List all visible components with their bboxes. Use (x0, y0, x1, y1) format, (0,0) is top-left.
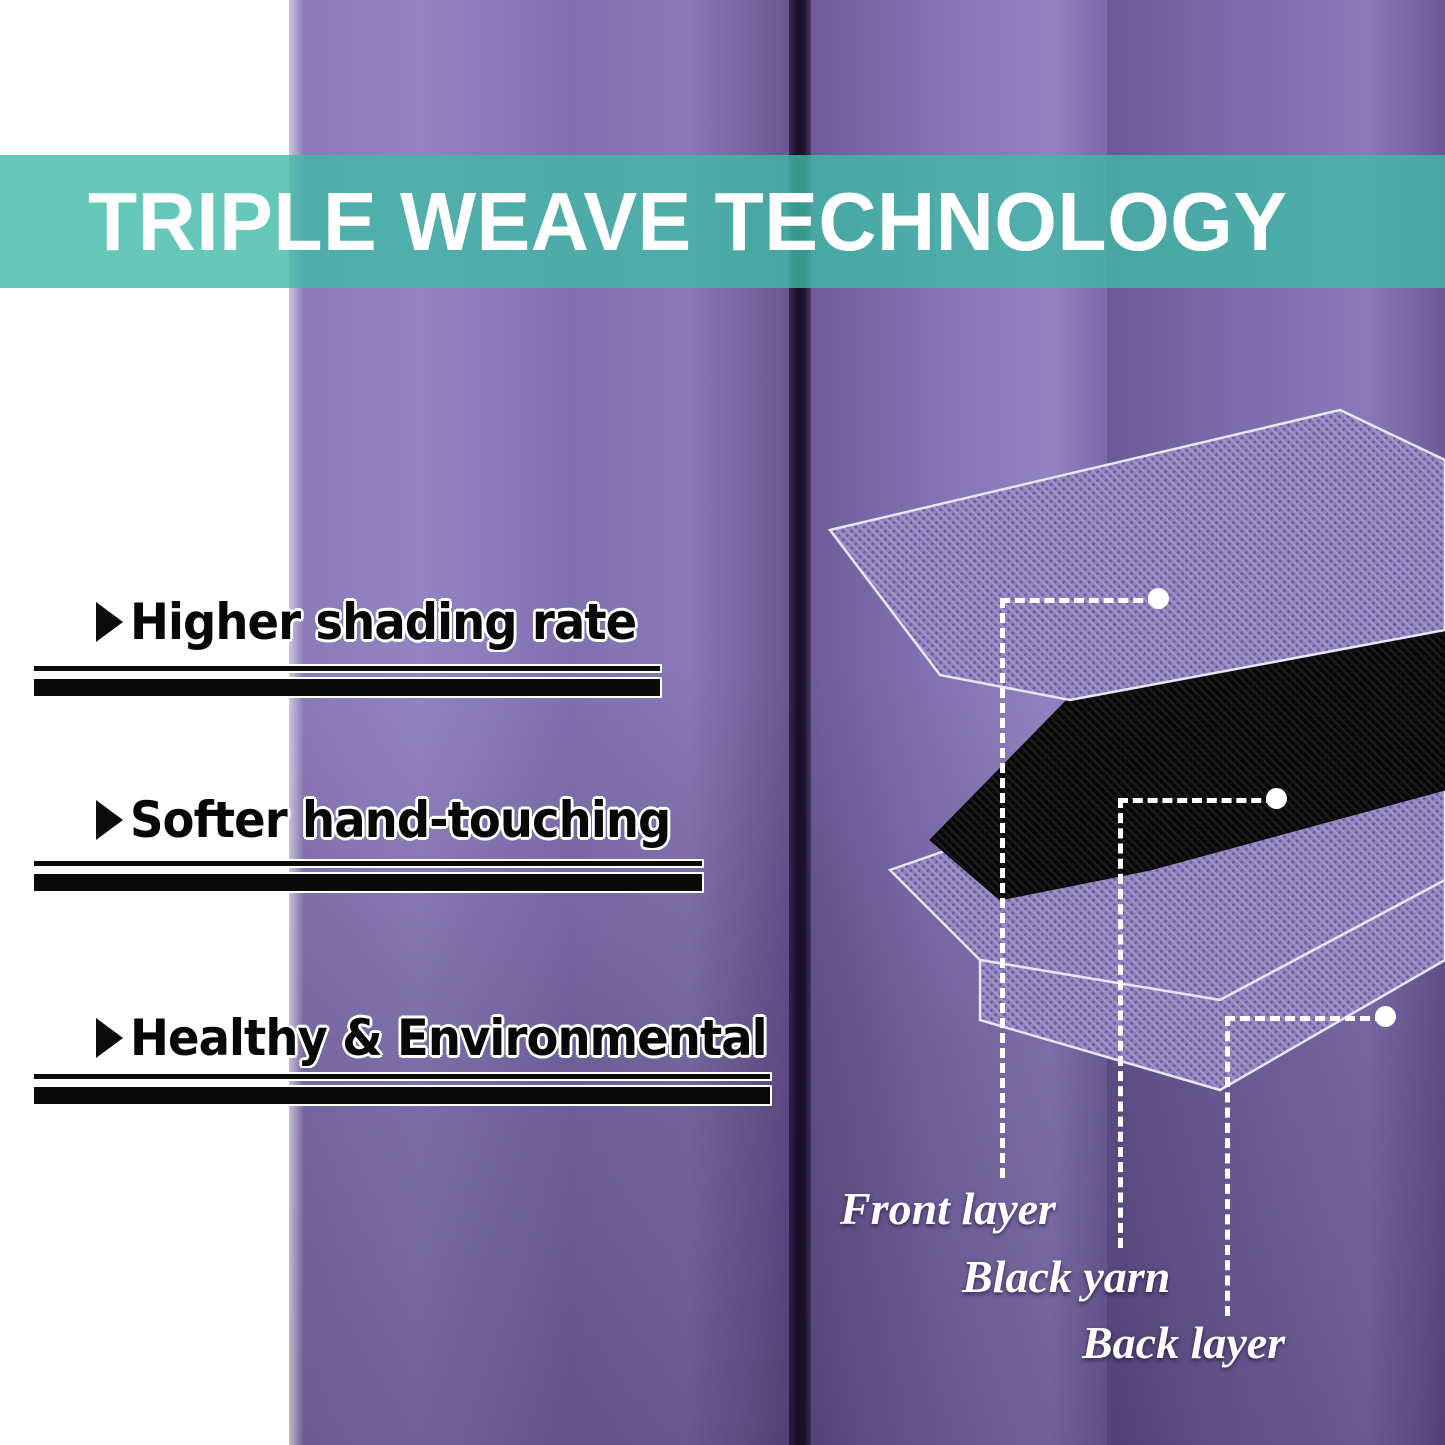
feature-item-3: Healthy & Environmental (96, 1010, 815, 1066)
underline-thick (32, 872, 704, 893)
page-title: TRIPLE WEAVE TECHNOLOGY (88, 172, 1368, 272)
leader-line-yarn-horizontal (1118, 798, 1276, 803)
feature-label: Higher shading rate (130, 594, 636, 650)
triangle-right-icon (96, 800, 123, 840)
underline-thick (32, 1085, 772, 1106)
leader-line-front-horizontal (1000, 598, 1158, 603)
feature-underline-2 (32, 859, 704, 893)
label-front-layer: Front layer (840, 1184, 1056, 1234)
triangle-right-icon (96, 602, 123, 642)
leader-dot-yarn (1266, 788, 1287, 809)
underline-thick (32, 677, 662, 698)
triangle-right-icon (96, 1018, 123, 1058)
leader-line-yarn-vertical (1118, 798, 1123, 1248)
leader-line-back-vertical (1225, 1016, 1230, 1316)
underline-thin (32, 664, 662, 673)
label-black-yarn: Black yarn (962, 1252, 1170, 1302)
leader-dot-back (1375, 1006, 1396, 1027)
feature-item-2: Softer hand-touching (96, 792, 711, 848)
leader-line-front-vertical (1000, 598, 1005, 1178)
leader-line-back-horizontal (1225, 1016, 1385, 1021)
feature-underline-3 (32, 1072, 772, 1106)
feature-label: Healthy & Environmental (130, 1010, 767, 1066)
fabric-layer-diagram (820, 400, 1445, 1220)
underline-thin (32, 1072, 772, 1081)
feature-label: Softer hand-touching (130, 792, 670, 848)
label-back-layer: Back layer (1082, 1318, 1285, 1368)
feature-item-1: Higher shading rate (96, 594, 674, 650)
underline-thin (32, 859, 704, 868)
feature-underline-1 (32, 664, 662, 698)
leader-dot-front (1148, 588, 1169, 609)
infographic-root: TRIPLE WEAVE TECHNOLOGY Higher shading r… (0, 0, 1445, 1445)
